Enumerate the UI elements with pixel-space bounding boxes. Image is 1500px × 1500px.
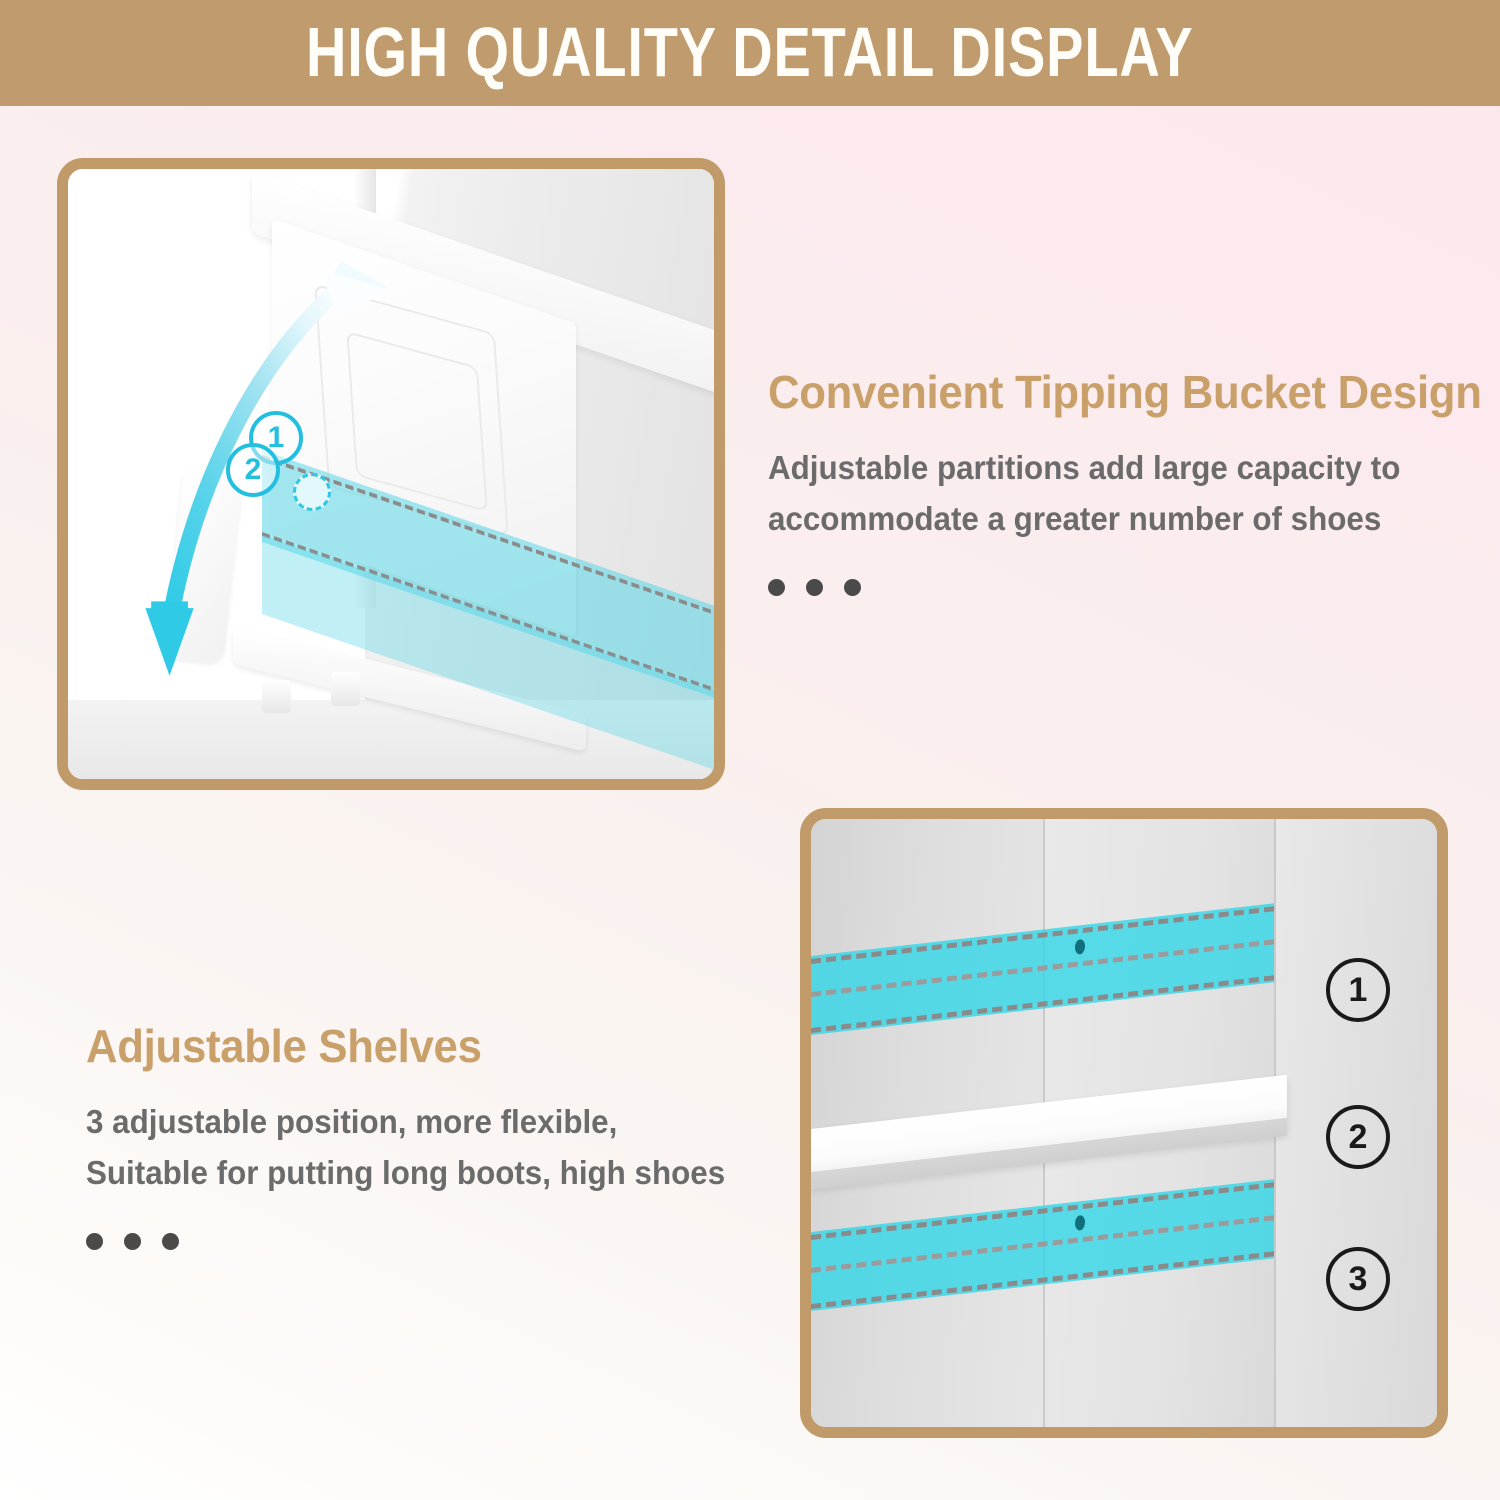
shelf-dash-line xyxy=(811,1216,1274,1274)
dot xyxy=(124,1233,141,1250)
marker-shelf-1: 1 xyxy=(1326,958,1390,1022)
header-band: HIGH QUALITY DETAIL DISPLAY xyxy=(0,0,1500,106)
feature-adjustable-shelves: Adjustable Shelves 3 adjustable position… xyxy=(86,1022,746,1250)
marker-cyan-2: 2 xyxy=(226,443,280,497)
feature-body-shelves: 3 adjustable position, more flexible, Su… xyxy=(86,1096,713,1198)
shelf-peg-hole xyxy=(1075,939,1085,955)
feature-title-tipping: Convenient Tipping Bucket Design xyxy=(768,368,1414,416)
dot xyxy=(806,579,823,596)
feature-body-line: accommodate a greater number of shoes xyxy=(768,493,1414,544)
dot xyxy=(844,579,861,596)
dots-indicator xyxy=(768,579,1448,596)
page-title: HIGH QUALITY DETAIL DISPLAY xyxy=(306,17,1194,87)
dot xyxy=(162,1233,179,1250)
marker-shelf-3: 3 xyxy=(1326,1247,1390,1311)
tipping-bucket-photo xyxy=(68,169,714,779)
dashed-circle-marker-icon xyxy=(293,473,331,511)
marker-shelf-2: 2 xyxy=(1326,1105,1390,1169)
detail-display-page: HIGH QUALITY DETAIL DISPLAY xyxy=(0,0,1500,1500)
tipping-bucket-photo-panel xyxy=(57,158,725,790)
shelf-peg-hole xyxy=(1075,1215,1085,1231)
feature-body-line: Suitable for putting long boots, high sh… xyxy=(86,1147,713,1198)
dots-indicator xyxy=(86,1233,746,1250)
curved-double-arrow-icon xyxy=(68,169,714,779)
feature-body-line: 3 adjustable position, more flexible, xyxy=(86,1096,713,1147)
feature-tipping-bucket: Convenient Tipping Bucket Design Adjusta… xyxy=(768,368,1448,596)
feature-body-tipping: Adjustable partitions add large capacity… xyxy=(768,442,1414,544)
dot xyxy=(86,1233,103,1250)
feature-body-line: Adjustable partitions add large capacity… xyxy=(768,442,1414,493)
dot xyxy=(768,579,785,596)
feature-title-shelves: Adjustable Shelves xyxy=(86,1022,713,1070)
